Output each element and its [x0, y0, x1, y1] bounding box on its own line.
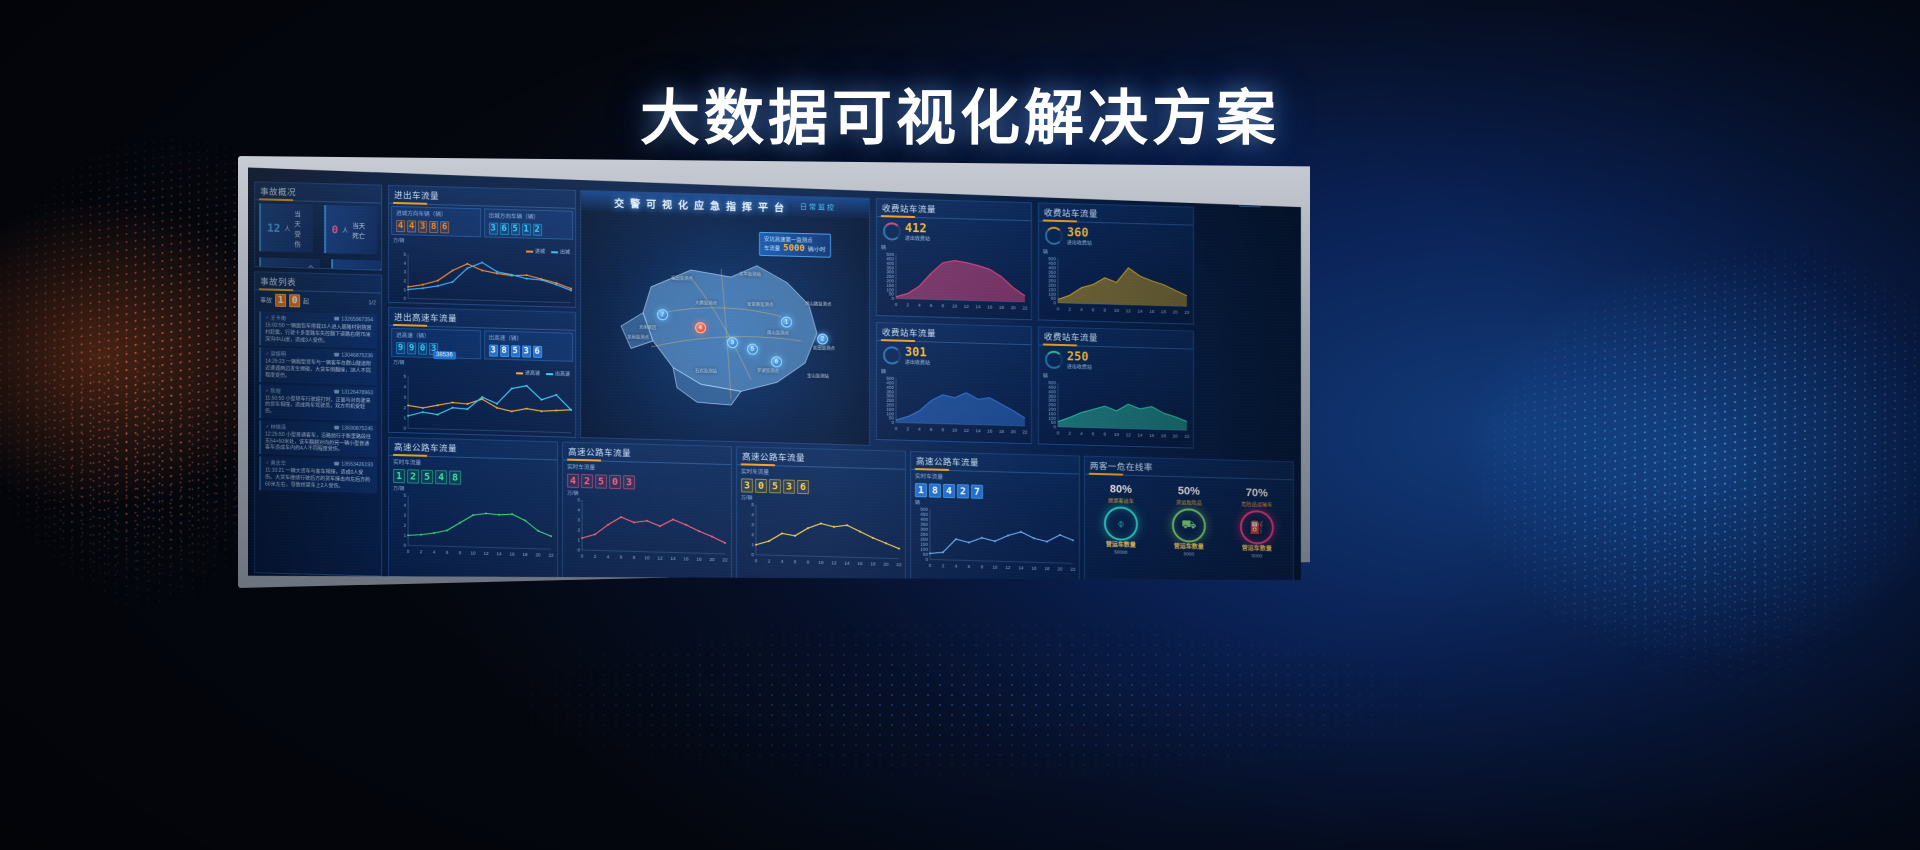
counter-digits: 36512: [485, 220, 572, 238]
panel-accident-overview: 事故概况12人当天受伤0人当天死亡3400人全年受伤2510人全年死亡: [254, 181, 382, 270]
toll-ring-row: 412进出收费站: [877, 217, 1031, 248]
svg-text:2: 2: [404, 278, 407, 283]
vehicle-bus-icon: ⌽: [1104, 506, 1138, 541]
panel-highway-4: 高速公路车流量实时车流量18427辆0501001502002503003504…: [910, 451, 1080, 596]
svg-text:8: 8: [1104, 432, 1107, 437]
svg-text:18: 18: [999, 429, 1005, 434]
page-title: 大数据可视化解决方案: [0, 88, 1920, 151]
svg-text:0: 0: [895, 426, 898, 431]
svg-text:0: 0: [407, 302, 410, 307]
svg-text:50: 50: [889, 292, 895, 297]
svg-text:2: 2: [420, 549, 423, 554]
chart-svg: 0123450246810121416182022: [740, 501, 902, 567]
map-label: 龙岗监测点: [627, 334, 649, 341]
counter-digit: 3: [489, 223, 498, 235]
chart-container: 0501001502002503003504004505000246810121…: [1039, 379, 1193, 444]
svg-text:4: 4: [404, 503, 407, 508]
svg-text:12: 12: [484, 551, 490, 556]
toll-ring-label: 进出收费站: [1067, 239, 1092, 247]
panel-toll-station-1: 收费站车流量412进出收费站辆0501001502002503003504004…: [876, 198, 1032, 320]
svg-text:14: 14: [509, 305, 515, 308]
svg-text:14: 14: [670, 556, 676, 561]
accident-item-phone: ☎ 13553426193: [333, 461, 373, 469]
dashboard-screen: 南山2018-0事故概况12人当天受伤0人当天死亡3400人全年受伤2510人全…: [248, 165, 1301, 607]
toll-value: 301: [905, 345, 930, 360]
counter-digit: 9: [396, 342, 405, 354]
accident-item-body: 11:50:50 小型轿车行驶超打时，正面与对向驶来的货车相撞，造成两车驾驶员，…: [265, 395, 373, 418]
map-label: 罗湖监测点: [757, 368, 779, 375]
accident-count-row: 事故10起1/2: [255, 290, 381, 312]
svg-text:2: 2: [768, 559, 771, 564]
accident-stat-label: 当天受伤: [294, 208, 306, 248]
legend-swatch: [526, 250, 533, 252]
toll-ring-label: 进出收费站: [905, 359, 930, 367]
svg-text:1: 1: [404, 533, 407, 538]
panel-highway-in-out: 进出高速车流量进高速（辆）9903出高速（辆）3853638536万/辆进高速出…: [388, 307, 576, 438]
svg-text:6: 6: [930, 303, 933, 308]
accident-stat: 0人当天死亡: [324, 205, 377, 254]
panel-highway-3: 高速公路车流量实时车流量30536万/辆01234502468101214161…: [736, 446, 906, 591]
accident-list-item[interactable]: ♂ 王卡南☎ 1326596735415:02:50 一辆面包车搭载15人进入基…: [259, 311, 377, 348]
svg-text:16: 16: [1149, 433, 1155, 438]
svg-text:50: 50: [889, 416, 895, 421]
svg-text:2: 2: [404, 405, 407, 410]
accident-stat-label: 全年死亡: [380, 265, 382, 271]
toll-ring-icon: [883, 346, 901, 364]
svg-text:14: 14: [975, 304, 981, 309]
svg-text:100: 100: [920, 547, 928, 552]
toll-ring-text: 412进出收费站: [905, 221, 930, 243]
highway-digit: 5: [769, 479, 781, 493]
svg-text:4: 4: [577, 508, 580, 513]
svg-text:0: 0: [1053, 300, 1056, 305]
accident-stat-value: 0: [332, 223, 339, 236]
highway-in-out-counters: 进高速（辆）9903出高速（辆）38536: [389, 326, 575, 364]
accident-count-digit: 0: [289, 294, 300, 307]
svg-text:3: 3: [404, 395, 407, 400]
svg-text:300: 300: [920, 527, 928, 532]
chart-container: 0501001502002503003504004505000246810121…: [1039, 255, 1193, 320]
accident-list-item[interactable]: ♂ 黄志华☎ 1355342619311:10:21 一辆大货车与客车相撞，造成…: [259, 456, 377, 493]
svg-text:2: 2: [942, 563, 945, 568]
svg-text:0: 0: [929, 563, 932, 568]
svg-text:6: 6: [1092, 431, 1095, 436]
map-pin-2[interactable]: 2: [817, 333, 828, 344]
accident-list-pager[interactable]: 1/2: [368, 300, 376, 306]
online-rate-pct: 50%: [1178, 485, 1200, 498]
accident-item-name: ♂ 林锦清: [265, 423, 286, 431]
svg-text:16: 16: [857, 561, 863, 566]
toll-ring-label: 进出收费站: [1067, 363, 1092, 371]
svg-text:500: 500: [1048, 380, 1056, 385]
counter-digit: 2: [533, 224, 542, 236]
online-rate-caption: 营运车数量50000: [1106, 542, 1136, 557]
map-pin-5[interactable]: 5: [747, 344, 758, 355]
accident-item-phone: ☎ 13046875236: [333, 353, 373, 361]
online-rate-count: 50000: [1114, 550, 1127, 555]
highway-digit: 3: [783, 479, 795, 493]
svg-text:20: 20: [1173, 310, 1179, 315]
svg-text:200: 200: [920, 537, 928, 542]
svg-text:22: 22: [548, 553, 554, 558]
svg-text:0: 0: [1057, 430, 1060, 435]
svg-text:16: 16: [509, 552, 515, 557]
toll-ring-text: 360进出收费站: [1067, 225, 1092, 247]
highway-digit: 8: [449, 470, 461, 484]
highway-digit: 2: [957, 484, 969, 498]
svg-text:4: 4: [433, 550, 436, 555]
svg-text:22: 22: [1022, 429, 1028, 434]
counter-block: 进城方向车辆（辆）44386: [391, 206, 480, 237]
svg-text:2: 2: [594, 554, 597, 559]
accident-stat: 2510人全年死亡: [331, 259, 382, 270]
map-label: 宝安路监测点: [747, 302, 773, 309]
svg-text:0: 0: [751, 552, 754, 557]
svg-text:4: 4: [436, 303, 439, 308]
svg-text:12: 12: [964, 428, 970, 433]
chart-container: 0501001502002503003504004505000246810121…: [877, 375, 1031, 440]
accident-item-name: ♂ 黄志华: [265, 459, 286, 467]
counter-digit: 3: [418, 221, 427, 233]
svg-text:16: 16: [524, 435, 530, 438]
chart-svg: 0501001502002503003504004505000246810121…: [1042, 255, 1190, 315]
panel-map: 交警可视化应急指挥平台日常监控福田监测点龙华监测站大鹏监测点宝安路监测点坪山路监…: [580, 190, 870, 446]
svg-text:18: 18: [539, 305, 545, 308]
svg-text:8: 8: [807, 560, 810, 565]
map-title: 交警可视化应急指挥平台: [614, 194, 790, 214]
chart-svg: 0501001502002503003504004505000246810121…: [880, 375, 1028, 435]
accident-item-name: ♂ 梁振明: [265, 351, 286, 359]
chart-container: 0501001502002503003504004505000246810121…: [877, 251, 1031, 316]
panel-title-accident-list: 事故列表: [255, 272, 381, 293]
svg-text:12: 12: [1005, 565, 1011, 570]
svg-text:250: 250: [920, 532, 928, 537]
chart-svg: 0123450246810121416182022: [392, 251, 574, 308]
map-pin-7[interactable]: 7: [657, 309, 668, 320]
accident-item-body: 12:25:50 小型普通客车，沿路前行于新里路段往东54+50米处，该车翻越对…: [265, 431, 373, 454]
svg-text:18: 18: [522, 552, 528, 557]
chart-tooltip: 38536: [433, 351, 456, 360]
svg-text:12: 12: [657, 556, 663, 561]
accident-item-body: 14:25:23 一辆厢型货车与一辆客车在群山隧道附近遭遇两边发生擦碰，大货车侧…: [265, 359, 373, 382]
chart-svg: 0501001502002503003504004505000246810121…: [914, 506, 1076, 572]
map-label: 龙华监测站: [739, 271, 761, 278]
online-rate-item-3: 70%危险品运输车⛽营运车数量5000: [1225, 486, 1289, 561]
accident-item-phone: ☎ 13126478963: [333, 389, 373, 397]
svg-text:4: 4: [404, 261, 407, 266]
map-label: 大鹏监测点: [695, 300, 717, 307]
svg-text:22: 22: [896, 562, 902, 567]
toll-ring-row: 301进出收费站: [877, 341, 1031, 372]
svg-text:3: 3: [404, 269, 407, 274]
map-pin-6[interactable]: 6: [771, 356, 782, 367]
svg-text:8: 8: [466, 303, 469, 307]
highway-digit: 8: [929, 483, 941, 497]
accident-item-body: 11:10:21 一辆大货车与客车相撞，造成0人受伤。大货车继续行驶后方的货车撞…: [265, 467, 373, 490]
svg-text:5: 5: [404, 493, 407, 498]
svg-text:18: 18: [1161, 309, 1167, 314]
accident-item-phone: ☎ 13690875245: [333, 425, 373, 433]
svg-text:20: 20: [1057, 566, 1063, 571]
highway-digit: 1: [915, 483, 927, 497]
accident-list-item[interactable]: ♂ 梁振明☎ 1304687523614:25:23 一辆厢型货车与一辆客车在群…: [259, 348, 377, 385]
svg-text:14: 14: [844, 561, 850, 566]
counter-digit: 4: [407, 220, 416, 232]
accident-stat-row: 3400人全年受伤2510人全年死亡: [255, 254, 381, 270]
counter-digit: 3: [522, 345, 531, 357]
hero-banner: 大数据可视化解决方案 南山2018-0事故概况12人当天受伤0人当天死亡3400…: [0, 0, 1920, 850]
svg-text:2: 2: [1068, 307, 1071, 312]
svg-text:0: 0: [925, 557, 928, 562]
svg-text:3: 3: [404, 513, 407, 518]
svg-text:0: 0: [1057, 306, 1060, 311]
svg-text:5: 5: [404, 374, 407, 379]
online-rate-name: 旅游客运车: [1108, 497, 1134, 505]
svg-text:18: 18: [999, 305, 1005, 310]
counter-digit: 3: [489, 345, 498, 357]
map-label: 坪山路监测点: [805, 301, 831, 308]
accident-stat-unit: 人: [342, 225, 348, 234]
svg-text:2: 2: [404, 523, 407, 528]
svg-text:16: 16: [987, 429, 993, 434]
online-rate-caption: 营运车数量6000: [1174, 544, 1204, 559]
panel-accident-list: 事故列表事故10起1/2♂ 王卡南☎ 1326596735415:02:50 一…: [254, 271, 382, 576]
chart-container: 0123450246810121416182022: [389, 251, 575, 308]
svg-text:20: 20: [1011, 305, 1017, 310]
online-rate-item-1: 80%旅游客运车⌽营运车数量50000: [1089, 483, 1153, 558]
svg-text:0: 0: [1053, 424, 1056, 429]
accident-list-item[interactable]: ♂ 林锦清☎ 1369087524512:25:50 小型普通客车，沿路前行于新…: [259, 420, 377, 457]
map-pin-1[interactable]: 1: [781, 316, 792, 327]
svg-text:500: 500: [886, 252, 894, 257]
chart-container: 0123450246810121416182022: [737, 501, 905, 573]
accident-stat-row: 12人当天受伤0人当天死亡: [255, 200, 381, 257]
panel-online-rate: 两客一危在线率80%旅游客运车⌽营运车数量5000050%货运危险品⛟营运车数量…: [1084, 456, 1294, 602]
toll-ring-row: 250进出收费站: [1039, 345, 1193, 376]
svg-text:18: 18: [1161, 433, 1167, 438]
highway-digit: 7: [971, 485, 983, 499]
accident-stat: 3400人全年受伤: [259, 257, 320, 270]
svg-text:4: 4: [918, 427, 921, 432]
svg-text:16: 16: [1149, 309, 1155, 314]
svg-text:22: 22: [568, 306, 574, 308]
svg-text:10: 10: [992, 565, 998, 570]
svg-text:4: 4: [1080, 307, 1083, 312]
svg-text:0: 0: [404, 426, 407, 431]
counter-digit: 1: [522, 223, 531, 235]
map-header: 交警可视化应急指挥平台日常监控: [581, 191, 869, 219]
panel-toll-station-4: 收费站车流量250进出收费站辆0501001502002503003504004…: [1038, 326, 1194, 448]
svg-text:18: 18: [539, 435, 545, 438]
counter-digit: 6: [440, 221, 449, 233]
svg-text:0: 0: [404, 543, 407, 548]
toll-value: 412: [905, 221, 930, 236]
map-pin-4[interactable]: 4: [695, 322, 706, 333]
panel-highway-1: 高速公路车流量实时车流量12548万/辆01234502468101214161…: [388, 437, 558, 582]
svg-text:8: 8: [942, 427, 945, 432]
svg-text:6: 6: [446, 550, 449, 555]
map-label: 光明新区: [639, 325, 657, 331]
svg-text:16: 16: [524, 305, 530, 308]
toll-ring-icon: [1045, 350, 1063, 368]
map-pin-3[interactable]: 3: [727, 337, 738, 348]
svg-text:22: 22: [1070, 567, 1076, 572]
online-rate-count: 5000: [1252, 554, 1263, 559]
svg-text:0: 0: [404, 296, 407, 301]
toll-ring-text: 250进出收费站: [1067, 349, 1092, 371]
counter-digit: 5: [511, 345, 520, 357]
map-label: 南山监测点: [767, 330, 789, 337]
svg-text:2: 2: [422, 302, 425, 307]
svg-text:4: 4: [607, 554, 610, 559]
accident-stat-value: 12: [267, 221, 280, 234]
svg-text:8: 8: [1104, 308, 1107, 313]
svg-text:8: 8: [459, 550, 462, 555]
svg-text:4: 4: [918, 303, 921, 308]
legend-swatch: [516, 372, 523, 374]
svg-text:20: 20: [1173, 434, 1179, 439]
svg-text:12: 12: [1126, 308, 1132, 313]
accident-stat-label: 全年受伤: [308, 263, 314, 271]
counter-block: 出高速（辆）38536: [484, 330, 573, 361]
svg-text:20: 20: [1011, 429, 1017, 434]
svg-text:22: 22: [722, 557, 728, 562]
svg-text:3: 3: [751, 522, 754, 527]
svg-text:50: 50: [923, 552, 929, 557]
chart-container: 0123450246810121416182022: [563, 497, 731, 569]
online-rate-item-2: 50%货运危险品⛟营运车数量6000: [1157, 485, 1221, 560]
svg-text:350: 350: [920, 522, 928, 527]
svg-text:0: 0: [577, 548, 580, 553]
svg-text:4: 4: [955, 564, 958, 569]
video-wall-screen-area: 南山2018-0事故概况12人当天受伤0人当天死亡3400人全年受伤2510人全…: [248, 165, 1301, 607]
panel-toll-station-2: 收费站车流量360进出收费站辆0501001502002503003504004…: [1038, 202, 1194, 324]
svg-text:4: 4: [436, 433, 439, 438]
panel-highway-2: 高速公路车流量实时车流量42503万/辆01234502468101214161…: [562, 441, 732, 586]
toll-ring-row: 360进出收费站: [1039, 221, 1193, 252]
online-rate-caption: 营运车数量5000: [1242, 546, 1272, 561]
vehicle-tanker-icon: ⛽: [1240, 510, 1274, 545]
counter-digit: 4: [396, 220, 405, 232]
map-mode-badge[interactable]: 日常监控: [800, 202, 836, 213]
svg-text:10: 10: [1114, 308, 1120, 313]
online-rate-pct: 80%: [1110, 483, 1132, 496]
svg-text:0: 0: [891, 296, 894, 301]
counter-digit: 0: [418, 343, 427, 355]
svg-text:14: 14: [1018, 565, 1024, 570]
svg-text:8: 8: [466, 433, 469, 437]
svg-text:8: 8: [942, 303, 945, 308]
legend-swatch: [551, 251, 558, 253]
chart-svg: 0123450246810121416182022: [566, 497, 728, 563]
svg-text:14: 14: [509, 435, 515, 438]
svg-text:14: 14: [496, 551, 502, 556]
svg-text:6: 6: [968, 564, 971, 569]
accident-count-digit: 1: [275, 294, 286, 307]
svg-text:18: 18: [696, 557, 702, 562]
highway-digit: 4: [435, 470, 447, 484]
svg-text:18: 18: [870, 561, 876, 566]
svg-text:18: 18: [1044, 566, 1050, 571]
accident-list-item[interactable]: ♂ 陈煜☎ 1312647896311:50:50 小型轿车行驶超打时，正面与对…: [259, 384, 377, 421]
svg-text:22: 22: [1022, 305, 1028, 310]
map-callout: 安坑高速第一监测点车流量5000辆/小时: [759, 232, 831, 258]
svg-text:12: 12: [494, 434, 500, 438]
legend-swatch: [546, 373, 553, 375]
svg-text:5: 5: [577, 498, 580, 503]
svg-text:500: 500: [886, 376, 894, 381]
svg-text:2: 2: [1068, 431, 1071, 436]
svg-text:12: 12: [1126, 432, 1132, 437]
svg-text:10: 10: [952, 304, 958, 309]
svg-text:0: 0: [407, 432, 410, 437]
svg-text:6: 6: [620, 555, 623, 560]
svg-text:2: 2: [422, 432, 425, 437]
panel-toll-station-3: 收费站车流量301进出收费站辆0501001502002503003504004…: [876, 322, 1032, 444]
map-label: 宝山监测站: [807, 373, 829, 380]
svg-text:500: 500: [920, 507, 928, 512]
svg-text:22: 22: [1184, 434, 1190, 439]
online-rate-pct: 70%: [1246, 487, 1268, 500]
map-callout-row: 车流量5000辆/小时: [764, 243, 826, 255]
highway-digit: 2: [581, 474, 593, 488]
svg-text:1: 1: [404, 287, 407, 292]
svg-text:10: 10: [1114, 432, 1120, 437]
svg-text:500: 500: [1048, 256, 1056, 261]
online-rate-name: 危险品运输车: [1241, 501, 1272, 509]
svg-text:10: 10: [952, 428, 958, 433]
highway-digit: 4: [567, 474, 579, 488]
chart-container: 0123450246810121416182022: [389, 492, 557, 564]
svg-text:1: 1: [577, 538, 580, 543]
chart-svg: 0123450246810121416182022: [392, 373, 574, 438]
highway-digit: 5: [421, 470, 433, 484]
svg-text:22: 22: [568, 436, 574, 438]
counter-digits: 38536: [485, 342, 572, 360]
counter-digit: 5: [511, 223, 520, 235]
svg-text:20: 20: [883, 562, 889, 567]
highway-digit: 1: [393, 469, 405, 483]
svg-text:8: 8: [633, 555, 636, 560]
toll-ring-icon: [883, 222, 901, 240]
svg-text:12: 12: [964, 304, 970, 309]
svg-text:0: 0: [581, 554, 584, 559]
counter-digits: 44386: [392, 218, 479, 236]
svg-text:20: 20: [554, 436, 560, 438]
online-rate-name: 货运危险品: [1176, 499, 1202, 507]
highway-digit: 3: [623, 475, 635, 489]
map-callout-unit: 辆/小时: [808, 245, 826, 253]
accident-stat: 12人当天受伤: [259, 203, 312, 252]
toll-ring-text: 301进出收费站: [905, 345, 930, 367]
chart-container: 0501001502002503003504004505000246810121…: [911, 506, 1079, 578]
svg-text:4: 4: [751, 512, 754, 517]
svg-text:16: 16: [987, 305, 993, 310]
panel-title-accident-overview: 事故概况: [255, 182, 381, 203]
svg-text:10: 10: [644, 555, 650, 560]
highway-digit: 0: [609, 475, 621, 489]
accident-stat-label: 当天死亡: [352, 220, 371, 241]
counter-digit: 8: [429, 221, 438, 233]
svg-text:20: 20: [535, 552, 541, 557]
map-label: 福田监测点: [671, 275, 693, 282]
accident-count-unit: 起: [303, 296, 309, 305]
chart-container: 0123450246810121416182022: [389, 373, 575, 438]
inout-flow-counters: 进城方向车辆（辆）44386出城方向车辆（辆）36512: [389, 204, 575, 242]
toll-ring-label: 进出收费站: [905, 235, 930, 243]
svg-text:20: 20: [709, 557, 715, 562]
map-callout-metric: 车流量: [764, 244, 780, 252]
